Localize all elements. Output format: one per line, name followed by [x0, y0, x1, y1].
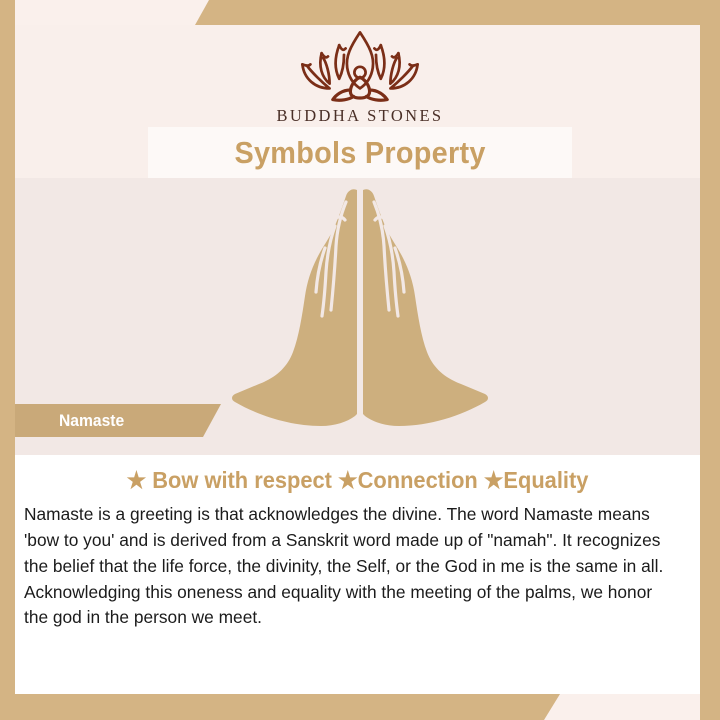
- attributes-headline: ★ Bow with respect ★Connection ★Equality: [32, 467, 683, 494]
- description-paragraph: Namaste is a greeting is that acknowledg…: [24, 502, 681, 631]
- brand-logo: BUDDHA STONES: [0, 26, 720, 126]
- poster-root: BUDDHA STONES Symbols Property: [0, 0, 720, 720]
- page-title: Symbols Property: [234, 135, 485, 171]
- bottom-accent-band: [0, 694, 560, 720]
- brand-name: BUDDHA STONES: [276, 106, 443, 126]
- content-panel: ★ Bow with respect ★Connection ★Equality…: [15, 455, 700, 694]
- section-ribbon-label: Namaste: [59, 411, 124, 431]
- top-accent-band: [195, 0, 720, 25]
- lotus-meditation-icon: [280, 26, 440, 102]
- section-ribbon: Namaste: [15, 404, 221, 437]
- title-plate: Symbols Property: [148, 127, 572, 178]
- praying-hands-namaste-icon: [229, 186, 491, 428]
